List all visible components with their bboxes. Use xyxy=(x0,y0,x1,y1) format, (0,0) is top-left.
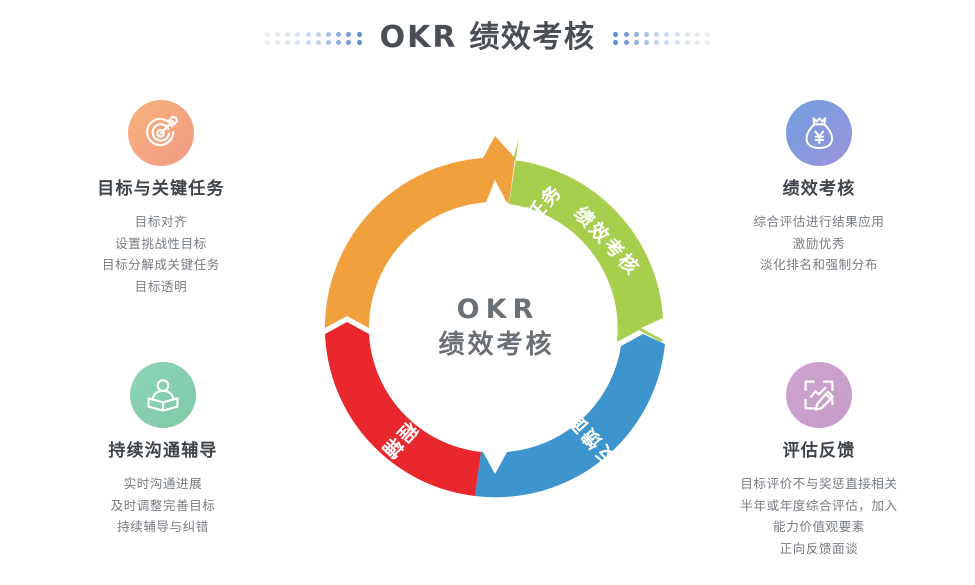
dot xyxy=(346,32,351,37)
wheel-segment-coaching[interactable] xyxy=(325,322,481,496)
reading-person-icon xyxy=(130,362,196,428)
dot xyxy=(295,40,300,45)
dot-line xyxy=(613,40,710,45)
dot xyxy=(654,32,659,37)
dot xyxy=(316,40,321,45)
dot xyxy=(336,32,341,37)
info-line: 持续辅导与纠错 xyxy=(32,516,294,538)
info-line: 激励优秀 xyxy=(688,233,950,255)
dot xyxy=(675,32,680,37)
dot xyxy=(275,40,280,45)
title-dots-left xyxy=(265,32,362,45)
info-line: 综合评估进行结果应用 xyxy=(688,211,950,233)
page-title-cn: 绩效考核 xyxy=(469,20,595,55)
page-title-latin: OKR xyxy=(380,20,458,55)
info-line: 及时调整完善目标 xyxy=(32,495,294,517)
dot xyxy=(336,40,341,45)
info-block-title: 评估反馈 xyxy=(688,440,950,462)
dot xyxy=(306,32,311,37)
dot xyxy=(265,40,270,45)
icon-wrap xyxy=(688,362,950,428)
info-block-feedback: 评估反馈 目标评价不与奖惩直接相关 半年或年度综合评估，加入 能力价值观要素 正… xyxy=(688,362,950,559)
dot xyxy=(624,40,629,45)
info-block-title: 目标与关键任务 xyxy=(30,178,292,200)
dot xyxy=(654,40,659,45)
dot xyxy=(346,40,351,45)
info-block-lines: 目标评价不与奖惩直接相关 半年或年度综合评估，加入 能力价值观要素 正向反馈面谈 xyxy=(688,473,950,559)
dot xyxy=(316,32,321,37)
wheel-segment-appraisal[interactable] xyxy=(509,138,663,342)
okr-cycle-wheel: 目标与关键任务 绩效考核 评估反馈面谈 过程辅导 OKR 绩效考核 xyxy=(295,128,695,528)
dot xyxy=(613,32,618,37)
target-icon xyxy=(128,100,194,166)
info-line: 淡化排名和强制分布 xyxy=(688,254,950,276)
dot xyxy=(634,40,639,45)
dot xyxy=(326,32,331,37)
info-block-lines: 目标对齐 设置挑战性目标 目标分解成关键任务 目标透明 xyxy=(30,211,292,297)
info-line: 目标分解成关键任务 xyxy=(30,254,292,276)
icon-wrap xyxy=(30,100,292,166)
dot xyxy=(634,32,639,37)
wheel-segment-objectives[interactable] xyxy=(325,136,515,328)
dot xyxy=(675,40,680,45)
info-line: 实时沟通进展 xyxy=(32,473,294,495)
info-block-appraisal: 绩效考核 综合评估进行结果应用 激励优秀 淡化排名和强制分布 xyxy=(688,100,950,276)
dot xyxy=(275,32,280,37)
dot xyxy=(705,32,710,37)
dot-line xyxy=(265,32,362,37)
dot xyxy=(285,32,290,37)
info-line: 设置挑战性目标 xyxy=(30,233,292,255)
info-line: 目标对齐 xyxy=(30,211,292,233)
dot xyxy=(685,32,690,37)
info-line: 正向反馈面谈 xyxy=(688,538,950,560)
info-line: 能力价值观要素 xyxy=(688,516,950,538)
info-line: 目标评价不与奖惩直接相关 xyxy=(688,473,950,495)
dot xyxy=(664,40,669,45)
page-title-row: OKR 绩效考核 xyxy=(0,14,975,62)
info-block-objectives: 目标与关键任务 目标对齐 设置挑战性目标 目标分解成关键任务 目标透明 xyxy=(30,100,292,297)
report-pencil-icon xyxy=(786,362,852,428)
dot xyxy=(613,40,618,45)
dot-line xyxy=(613,32,710,37)
info-line: 半年或年度综合评估，加入 xyxy=(688,495,950,517)
dot xyxy=(685,40,690,45)
dot xyxy=(644,40,649,45)
info-line: 目标透明 xyxy=(30,276,292,298)
infographic-canvas: OKR 绩效考核 xyxy=(0,0,975,585)
info-block-coaching: 持续沟通辅导 实时沟通进展 及时调整完善目标 持续辅导与纠错 xyxy=(32,362,294,538)
wheel-svg xyxy=(295,128,695,528)
dot xyxy=(664,32,669,37)
dot xyxy=(695,32,700,37)
icon-wrap xyxy=(688,100,950,166)
money-bag-icon xyxy=(786,100,852,166)
page-title: OKR 绩效考核 xyxy=(380,23,596,53)
title-dots-right xyxy=(613,32,710,45)
info-block-lines: 综合评估进行结果应用 激励优秀 淡化排名和强制分布 xyxy=(688,211,950,276)
info-block-lines: 实时沟通进展 及时调整完善目标 持续辅导与纠错 xyxy=(32,473,294,538)
info-block-title: 持续沟通辅导 xyxy=(32,440,294,462)
dot xyxy=(295,32,300,37)
dot xyxy=(326,40,331,45)
dot xyxy=(644,32,649,37)
wheel-segment-feedback[interactable] xyxy=(475,334,665,497)
dot xyxy=(306,40,311,45)
icon-wrap xyxy=(32,362,294,428)
dot xyxy=(705,40,710,45)
dot xyxy=(624,32,629,37)
dot xyxy=(357,32,362,37)
dot-line xyxy=(265,40,362,45)
dot xyxy=(285,40,290,45)
info-block-title: 绩效考核 xyxy=(688,178,950,200)
dot xyxy=(357,40,362,45)
dot xyxy=(695,40,700,45)
dot xyxy=(265,32,270,37)
